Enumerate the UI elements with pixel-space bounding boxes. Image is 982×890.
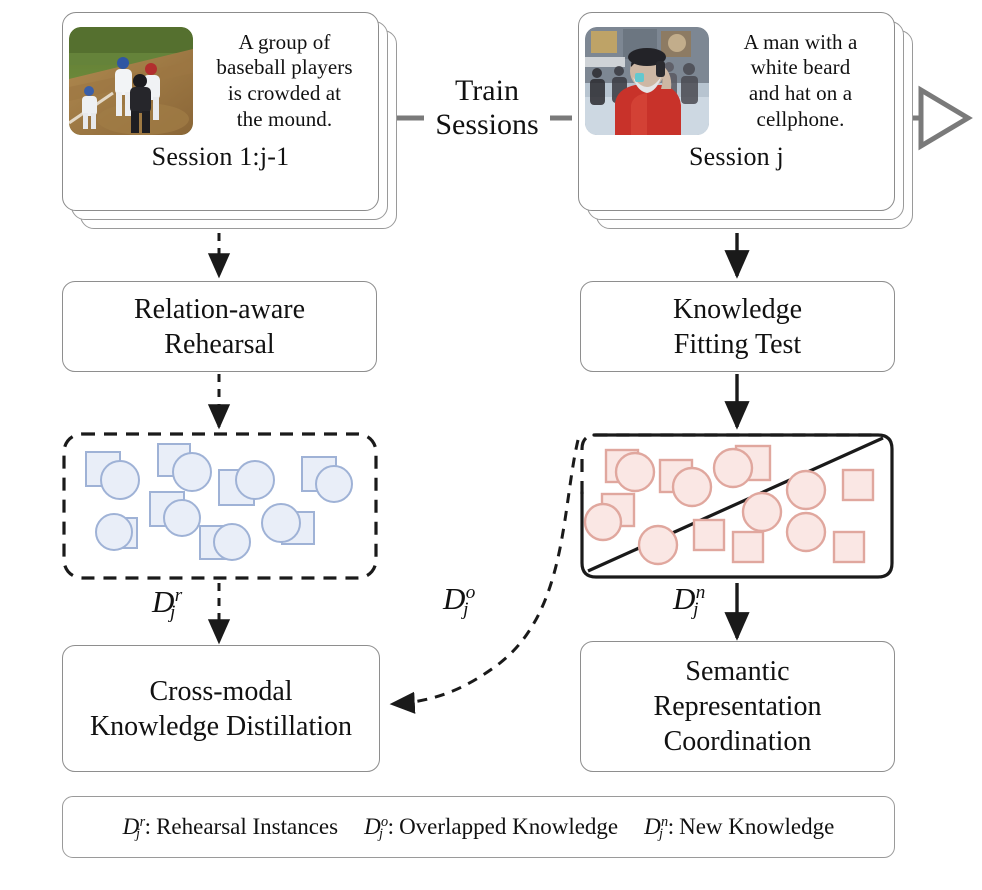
arrow-overlapped-knowledge-to-distillation — [392, 440, 578, 704]
relation-aware-rehearsal-line2: Rehearsal — [164, 329, 274, 360]
semantic-coordination-line3: Coordination — [664, 726, 812, 757]
legend-label: New Knowledge — [679, 814, 834, 840]
legend-symbol-subscript: j — [136, 826, 140, 842]
session-label-left: Session 1:j-1 — [152, 142, 290, 172]
symbol-overlapped-knowledge: Doj — [443, 581, 480, 617]
knowledge-fitting-test-line1: Knowledge — [673, 294, 802, 325]
symbol-subscript: j — [463, 599, 468, 620]
symbol-subscript: j — [170, 602, 175, 623]
process-box-knowledge-fitting-test[interactable]: Knowledge Fitting Test — [580, 281, 895, 372]
semantic-coordination-line2: Representation — [654, 691, 822, 722]
session-card-right[interactable]: A man with a white beard and hat on a ce… — [578, 12, 895, 211]
legend-symbol-superscript: r — [140, 814, 146, 830]
session-caption-right: A man with a white beard and hat on a ce… — [709, 30, 894, 132]
legend-item-overlapped-knowledge: Doj : Overlapped Knowledge — [364, 814, 618, 840]
knowledge-fitting-pane — [578, 432, 896, 580]
man-on-cellphone-photo — [585, 27, 709, 135]
process-box-relation-aware-rehearsal[interactable]: Relation-aware Rehearsal — [62, 281, 377, 372]
semantic-coordination-line1: Semantic — [685, 656, 789, 687]
knowledge-fitting-test-line2: Fitting Test — [674, 329, 801, 360]
legend-symbol-subscript: j — [379, 826, 383, 842]
rehearsal-instance-pane — [62, 432, 378, 580]
legend-symbol-subscript: j — [659, 826, 663, 842]
session-card-stack-left[interactable]: A group of baseball players is crowded a… — [62, 12, 402, 232]
legend-item-rehearsal-instances: Drj : Rehearsal Instances — [123, 814, 338, 840]
cross-modal-distillation-line1: Cross-modal — [149, 676, 292, 707]
baseball-players-photo — [69, 27, 193, 135]
symbol-rehearsal-instances: Drj — [152, 584, 187, 620]
legend-label: Overlapped Knowledge — [399, 814, 618, 840]
symbol-subscript: j — [693, 599, 698, 620]
symbol-superscript: r — [175, 585, 182, 606]
session-card-left[interactable]: A group of baseball players is crowded a… — [62, 12, 379, 211]
session-caption-left: A group of baseball players is crowded a… — [193, 30, 378, 132]
relation-aware-rehearsal-line1: Relation-aware — [134, 294, 305, 325]
legend-item-new-knowledge: Dnj : New Knowledge — [644, 814, 834, 840]
cross-modal-distillation-line2: Knowledge Distillation — [90, 711, 352, 742]
diagram-canvas: A group of baseball players is crowded a… — [0, 0, 982, 890]
session-label-right: Session j — [689, 142, 784, 172]
process-box-semantic-representation-coordination[interactable]: Semantic Representation Coordination — [580, 641, 895, 772]
train-sessions-label: Train Sessions — [424, 74, 550, 141]
process-box-cross-modal-knowledge-distillation[interactable]: Cross-modal Knowledge Distillation — [62, 645, 380, 772]
triangle-right-icon — [921, 90, 968, 146]
symbol-new-knowledge: Dnj — [673, 581, 710, 617]
session-card-stack-right[interactable]: A man with a white beard and hat on a ce… — [578, 12, 918, 232]
legend: Drj : Rehearsal Instances Doj : Overlapp… — [62, 796, 895, 858]
legend-label: Rehearsal Instances — [156, 814, 338, 840]
